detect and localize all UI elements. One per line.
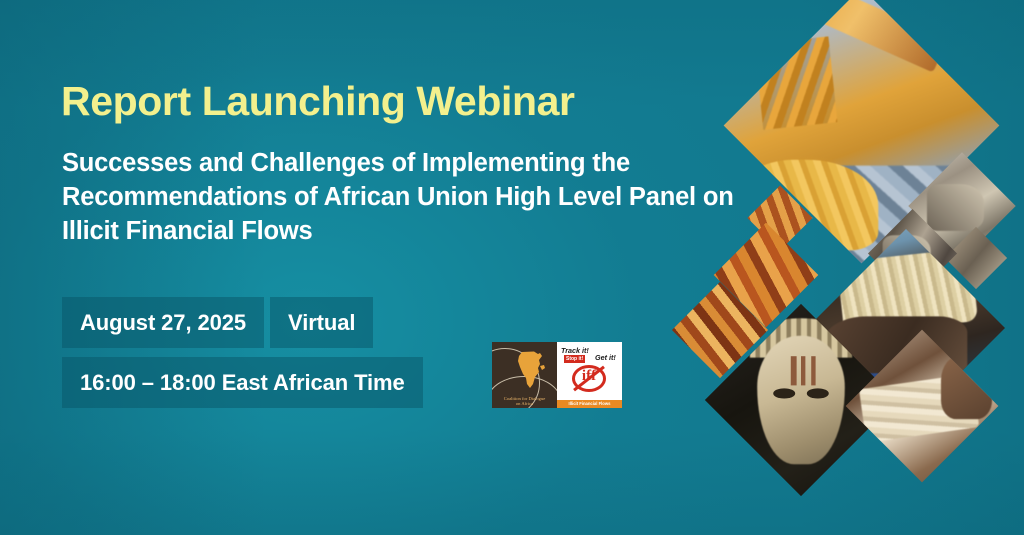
scaffold-frame [755,36,838,129]
mask-eye [807,388,829,398]
iff-track-text: Track it! [561,346,589,355]
webinar-banner: Report Launching Webinar Successes and C… [0,0,1024,535]
mask-scarification [791,356,796,386]
date-badge: August 27, 2025 [62,297,264,348]
iff-campaign-logo: Track it! Stop it! Get it! iff Illicit F… [557,342,622,408]
mask-scarification [801,356,806,386]
africa-map-icon [514,350,548,390]
iff-caption: Illicit Financial Flows [557,400,622,408]
page-subtitle: Successes and Challenges of Implementing… [62,146,742,248]
iff-get-text: Get it! [595,353,616,362]
logo-group: Coalition for Dialogue on Africa Track i… [492,342,622,408]
coda-caption-line2: on Africa [492,401,557,407]
text-content: Report Launching Webinar Successes and C… [60,0,760,535]
stone-chunk [926,184,984,231]
iff-stop-text: Stop it! [564,355,585,363]
mask-scarification [811,356,816,386]
badge-row-secondary: 16:00 – 18:00 East African Time [62,357,423,408]
coda-caption: Coalition for Dialogue on Africa [492,396,557,407]
time-badge: 16:00 – 18:00 East African Time [62,357,423,408]
badge-row-primary: August 27, 2025 Virtual [62,297,373,348]
page-title: Report Launching Webinar [61,78,575,125]
coda-logo: Coalition for Dialogue on Africa [492,342,557,408]
mask-eye [773,388,795,398]
venue-badge: Virtual [270,297,373,348]
